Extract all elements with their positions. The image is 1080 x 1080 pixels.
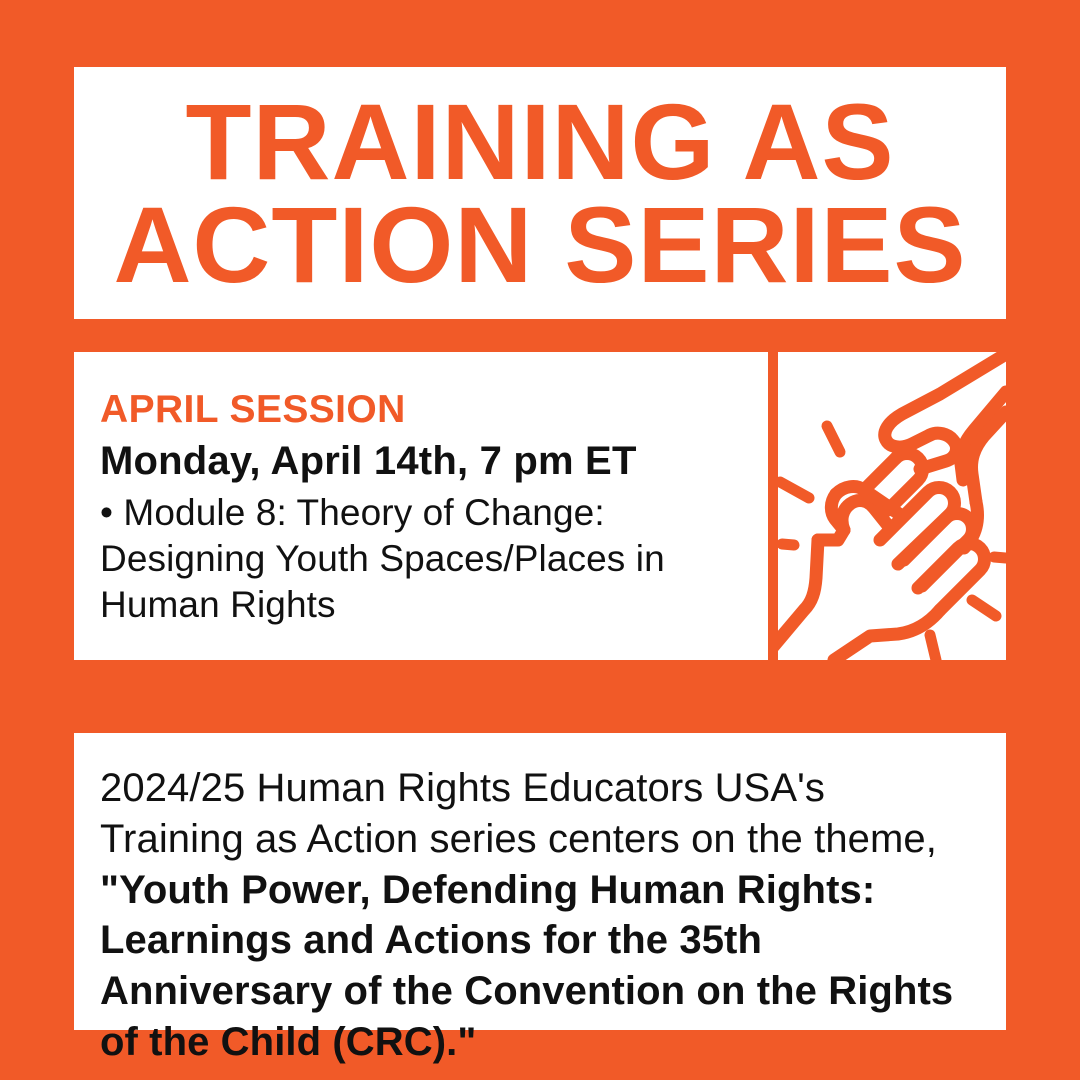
description-text: 2024/25 Human Rights Educators USA's Tra… <box>100 763 978 1068</box>
description-panel: 2024/25 Human Rights Educators USA's Tra… <box>74 733 1006 1030</box>
page-title-line-1: TRAINING AS <box>186 92 895 191</box>
header-panel: TRAINING AS ACTION SERIES <box>74 67 1006 319</box>
helping-hands-icon <box>778 352 1006 660</box>
description-theme-quote: "Youth Power, Defending Human Rights: Le… <box>100 868 953 1064</box>
session-kicker-label: APRIL SESSION <box>100 390 742 429</box>
session-datetime-label: Monday, April 14th, 7 pm ET <box>100 439 742 484</box>
session-row: APRIL SESSION Monday, April 14th, 7 pm E… <box>74 352 1006 660</box>
description-lead: 2024/25 Human Rights Educators USA's Tra… <box>100 766 937 861</box>
session-details-panel: APRIL SESSION Monday, April 14th, 7 pm E… <box>74 352 768 660</box>
page-title-line-2: ACTION SERIES <box>113 195 966 294</box>
poster-canvas: TRAINING AS ACTION SERIES APRIL SESSION … <box>0 0 1080 1080</box>
session-module-label: • Module 8: Theory of Change: Designing … <box>100 490 742 628</box>
artwork-panel <box>778 352 1006 660</box>
